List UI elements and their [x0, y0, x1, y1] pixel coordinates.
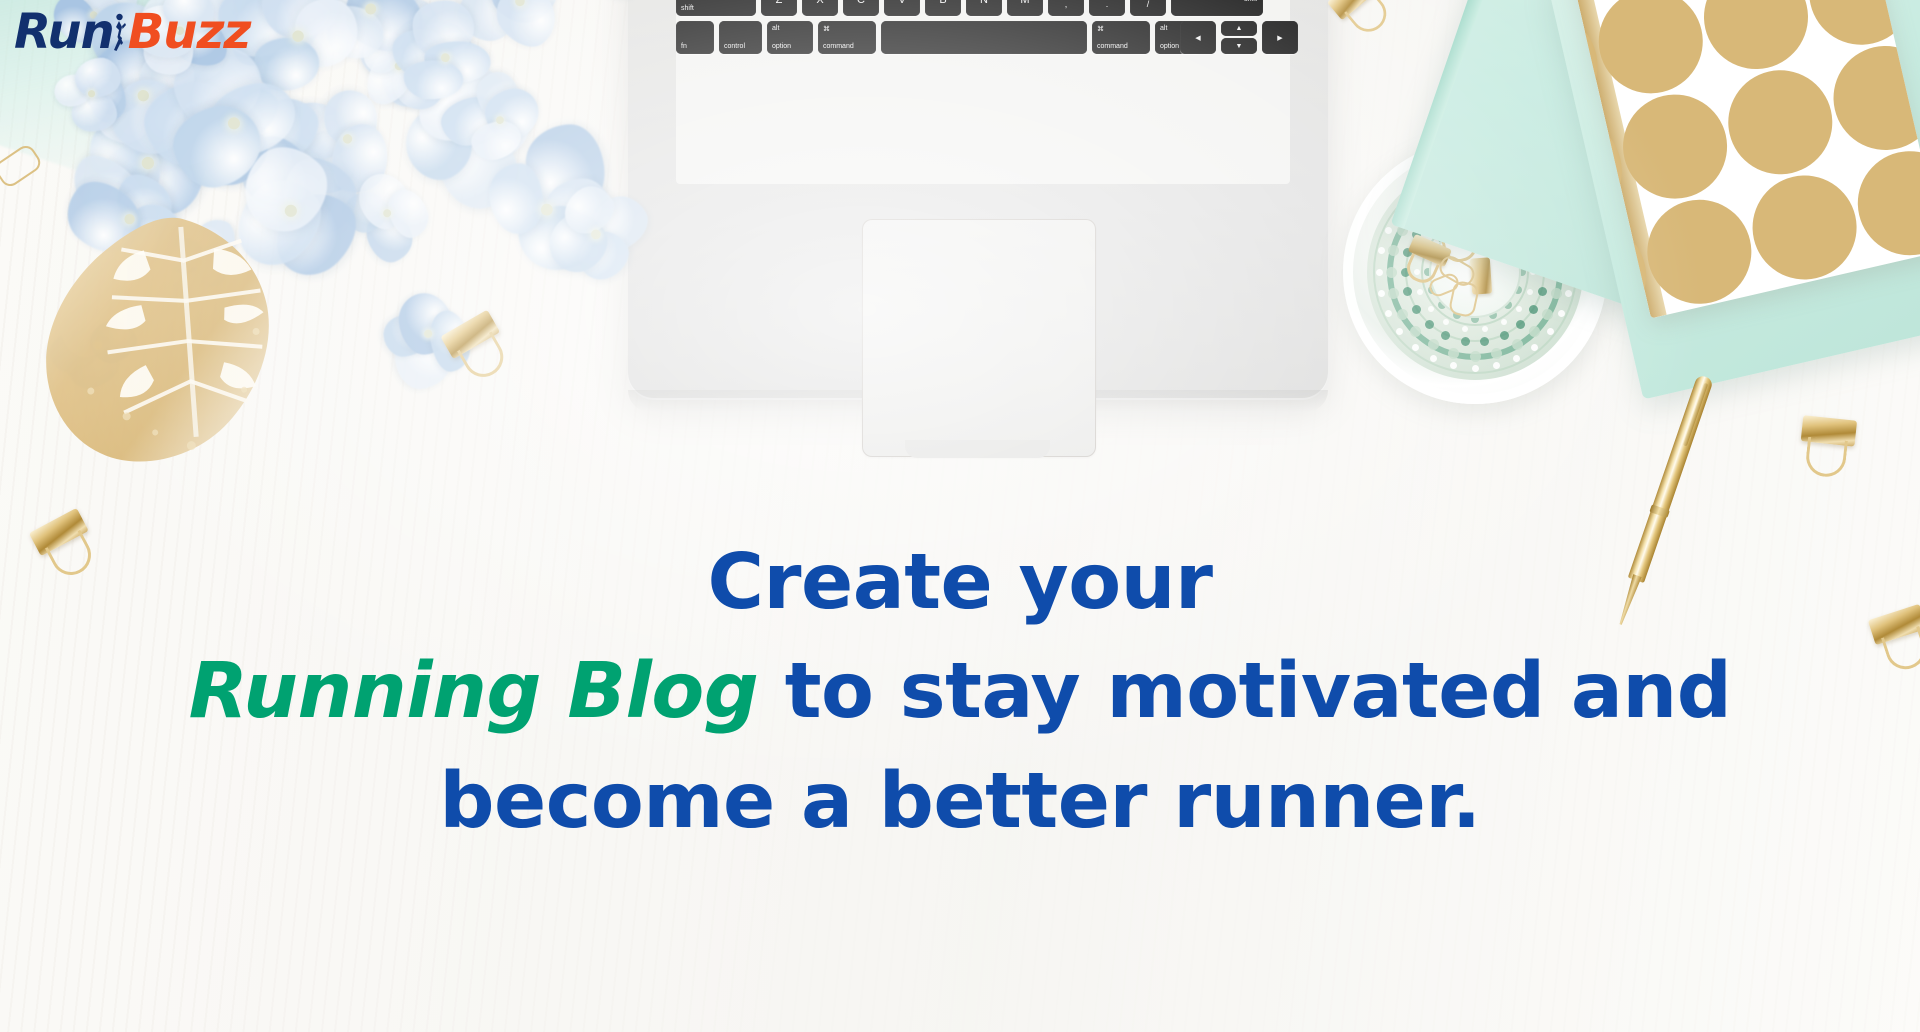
gold-polka-dot	[1694, 0, 1819, 79]
bowl-pattern-dot	[1376, 269, 1383, 276]
keyboard-row: fncontrolaltoption⌘command⌘commandaltopt…	[676, 21, 1201, 54]
bowl-pattern-dot	[1480, 337, 1489, 346]
bowl-pattern-dot	[1430, 355, 1437, 362]
gold-polka-dot	[1718, 60, 1843, 185]
key--: <,	[1048, 0, 1084, 16]
bowl-pattern-dot	[1428, 306, 1434, 312]
headline-line-2-rest: to stay motivated and	[758, 647, 1731, 736]
logo-run-text: Run	[14, 8, 114, 56]
bowl-pattern-dot	[1542, 309, 1553, 320]
bowl-pattern-dot	[1529, 305, 1538, 314]
bowl-pattern-dot	[1412, 305, 1421, 314]
bowl-pattern-dot	[1462, 326, 1468, 332]
logo-buzz-text: Buzz	[128, 8, 251, 56]
bowl-pattern-dot	[1385, 310, 1392, 317]
bowl-pattern-dot	[1500, 331, 1509, 340]
binder-clip-top-center	[1327, 0, 1403, 45]
bowl-pattern-dot	[1461, 337, 1470, 346]
key--: >.	[1089, 0, 1125, 16]
key-shift-right: shift	[1171, 0, 1263, 16]
bowl-pattern-dot	[1551, 288, 1562, 299]
bowl-pattern-dot	[1501, 319, 1507, 325]
bowl-pattern-dot	[1412, 344, 1419, 351]
bowl-pattern-dot	[1529, 326, 1540, 337]
key-shift-left: shift	[676, 0, 756, 16]
key-arrow-right: ▶	[1262, 21, 1298, 54]
gold-monstera-leaf	[13, 178, 377, 491]
headline-line-1: Create your	[0, 528, 1920, 637]
bowl-pattern-dot	[1448, 348, 1459, 359]
bloom-center	[292, 30, 304, 42]
gold-polka-dot	[1847, 141, 1920, 266]
key-z: Z	[761, 0, 797, 16]
key-command: ⌘command	[818, 21, 876, 54]
bowl-pattern-dot	[1493, 362, 1500, 369]
bowl-pattern-dot	[1491, 348, 1502, 359]
bowl-pattern-dot	[1516, 320, 1525, 329]
gold-polka-dot	[1742, 165, 1867, 290]
laptop-lid-notch	[905, 440, 1050, 458]
bowl-pattern-dot	[1558, 310, 1565, 317]
key-arrow-down: ▼	[1221, 38, 1257, 54]
bowl-pattern-dot	[1538, 287, 1547, 296]
bowl-pattern-dot	[1428, 339, 1439, 350]
key-b: B	[925, 0, 961, 16]
bowl-pattern-dot	[1472, 365, 1479, 372]
bowl-pattern-dot	[1470, 351, 1481, 362]
headline: Create your Running Blog to stay motivat…	[0, 528, 1920, 856]
key-c: C	[843, 0, 879, 16]
bowl-pattern-dot	[1482, 326, 1488, 332]
headline-line-3: become a better runner.	[0, 747, 1920, 856]
keyboard-arrow-cluster: ◀▲▼▶	[1180, 21, 1298, 54]
key-m: M	[1007, 0, 1043, 16]
bowl-pattern-dot	[1441, 331, 1450, 340]
runbuzz-logo[interactable]: Run Buzz	[14, 8, 250, 56]
keyboard-row: shiftZXCVBNM<,>.?/shift	[676, 0, 1263, 16]
banner-canvas: `1234567890-=deletetabQWERTYUIOP{[}]|\•c…	[0, 0, 1920, 1032]
bowl-pattern-dot	[1378, 247, 1385, 254]
laptop-keyboard: `1234567890-=deletetabQWERTYUIOP{[}]|\•c…	[676, 0, 1290, 184]
running-figure-icon	[114, 10, 128, 54]
key-space	[881, 21, 1087, 54]
bloom-center	[87, 90, 95, 98]
key-arrow-up: ▲	[1221, 21, 1257, 36]
bowl-pattern-dot	[1531, 344, 1538, 351]
key-command: ⌘command	[1092, 21, 1150, 54]
headline-emphasis-running-blog: Running Blog	[189, 647, 759, 736]
bowl-pattern-dot	[1417, 289, 1423, 295]
bowl-pattern-dot	[1385, 227, 1392, 234]
bowl-pattern-dot	[1403, 287, 1412, 296]
laptop-trackpad	[862, 219, 1096, 457]
bowl-pattern-dot	[1527, 289, 1533, 295]
binder-clip-arm	[1344, 0, 1394, 39]
bowl-pattern-dot	[1425, 320, 1434, 329]
bowl-pattern-dot	[1386, 267, 1397, 278]
bowl-pattern-dot	[1378, 290, 1385, 297]
bowl-pattern-dot	[1443, 319, 1449, 325]
bowl-pattern-dot	[1397, 309, 1408, 320]
bowl-pattern-dot	[1410, 326, 1421, 337]
bowl-pattern-dot	[1547, 328, 1554, 335]
bowl-pattern-dot	[1450, 362, 1457, 369]
bowl-pattern-dot	[1512, 339, 1523, 350]
headline-line-2: Running Blog to stay motivated and	[0, 637, 1920, 746]
bowl-pattern-dot	[1513, 355, 1520, 362]
key--: ?/	[1130, 0, 1166, 16]
key-fn: fn	[676, 21, 714, 54]
bowl-pattern-dot	[1516, 306, 1522, 312]
binder-clip-right-upper	[1797, 415, 1861, 483]
bowl-pattern-dot	[1388, 288, 1399, 299]
bowl-pattern-dot	[1396, 328, 1403, 335]
key-arrow-left: ◀	[1180, 21, 1216, 54]
key-control: control	[719, 21, 762, 54]
bowl-pattern-dot	[1388, 245, 1399, 256]
key-option: altoption	[767, 21, 813, 54]
binder-clip-arm	[1804, 437, 1848, 479]
key-x: X	[802, 0, 838, 16]
key-n: N	[966, 0, 1002, 16]
bowl-pattern-dot	[1565, 290, 1572, 297]
key-v: V	[884, 0, 920, 16]
